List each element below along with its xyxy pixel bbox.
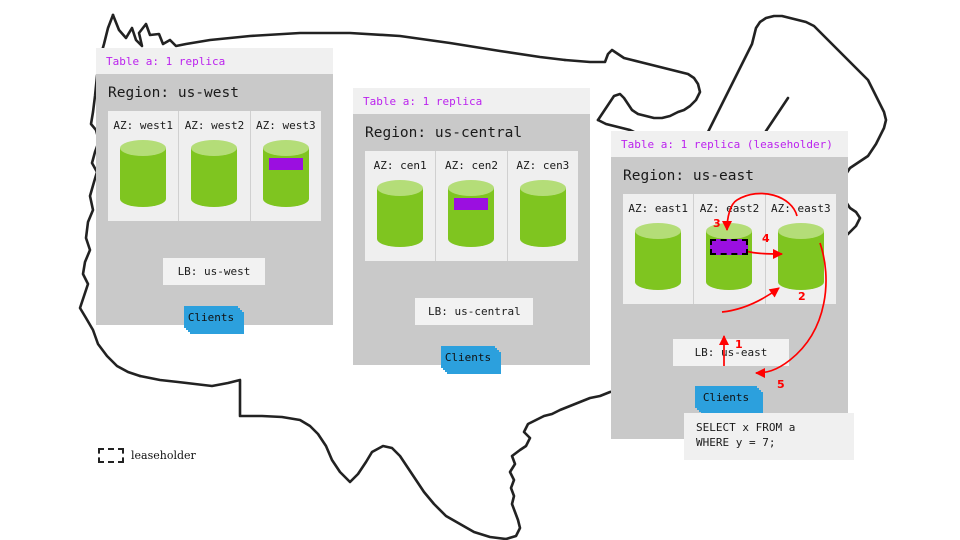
cylinder-cen2[interactable] [448,180,494,247]
az-label-cen3: AZ: cen3 [516,159,569,172]
arrow-number-5: 5 [777,378,785,391]
clients-label-us-east[interactable]: Clients [695,386,757,408]
cylinder-top [635,223,681,239]
az-label-east1: AZ: east1 [628,202,688,215]
cylinder-west3[interactable] [263,140,309,207]
az-label-west3: AZ: west3 [256,119,316,132]
clients-label-us-west[interactable]: Clients [184,306,238,328]
az-cell-cen1[interactable]: AZ: cen1 [365,151,436,261]
az-row-us-east: AZ: east1 AZ: east2 [623,194,836,304]
az-label-east3: AZ: east3 [771,202,831,215]
cylinder-cen3[interactable] [520,180,566,247]
lb-box-us-central[interactable]: LB: us-central [415,298,533,325]
cylinder-east3[interactable] [778,223,824,290]
panel-header-us-west: Table a: 1 replica [96,48,333,74]
arrow-number-2: 2 [798,290,806,303]
clients-us-east[interactable]: Clients [695,386,757,408]
region-panel-us-central[interactable]: Table a: 1 replica Region: us-central AZ… [353,88,590,365]
sql-query-box: SELECT x FROM a WHERE y = 7; [684,413,854,460]
az-cell-west2[interactable]: AZ: west2 [179,111,250,221]
cylinder-east1[interactable] [635,223,681,290]
clients-us-west[interactable]: Clients [184,306,238,328]
cylinder-west2[interactable] [191,140,237,207]
az-cell-east2[interactable]: AZ: east2 [694,194,765,304]
panel-header-us-central: Table a: 1 replica [353,88,590,114]
panel-header-us-east: Table a: 1 replica (leaseholder) [611,131,848,157]
lb-box-us-west[interactable]: LB: us-west [163,258,265,285]
az-row-us-west: AZ: west1 AZ: west2 AZ [108,111,321,221]
panel-body-us-west: Region: us-west AZ: west1 AZ: west2 [96,74,333,325]
az-cell-cen2[interactable]: AZ: cen2 [436,151,507,261]
az-cell-west1[interactable]: AZ: west1 [108,111,179,221]
cylinder-top [377,180,423,196]
panel-body-us-east: Region: us-east AZ: east1 AZ: east2 [611,157,848,439]
az-cell-east3[interactable]: AZ: east3 [766,194,836,304]
cylinder-top [120,140,166,156]
region-title-us-west: Region: us-west [96,74,333,111]
cylinder-top [263,140,309,156]
arrow-number-1: 1 [735,338,743,351]
cylinder-top [778,223,824,239]
legend-leaseholder: leaseholder [98,448,196,463]
region-title-us-central: Region: us-central [353,114,590,151]
arrow-number-4: 4 [762,232,770,245]
leaseholder-replica-east2[interactable] [710,239,748,255]
diagram-canvas: Table a: 1 replica Region: us-west AZ: w… [0,0,960,540]
az-row-us-central: AZ: cen1 AZ: cen2 [365,151,578,261]
clients-label-us-central[interactable]: Clients [441,346,495,368]
cylinder-top [520,180,566,196]
replica-block-cen2[interactable] [454,198,488,210]
dashed-rectangle-icon [98,448,124,463]
legend-label: leaseholder [131,449,196,462]
az-cell-cen3[interactable]: AZ: cen3 [508,151,578,261]
cylinder-east2[interactable] [706,223,752,290]
panel-body-us-central: Region: us-central AZ: cen1 AZ: cen2 [353,114,590,365]
az-label-cen2: AZ: cen2 [445,159,498,172]
az-label-cen1: AZ: cen1 [374,159,427,172]
region-title-us-east: Region: us-east [611,157,848,194]
az-label-west2: AZ: west2 [185,119,245,132]
replica-block-west3[interactable] [269,158,303,170]
region-panel-us-east[interactable]: Table a: 1 replica (leaseholder) Region:… [611,131,848,439]
region-panel-us-west[interactable]: Table a: 1 replica Region: us-west AZ: w… [96,48,333,325]
arrow-number-3: 3 [713,217,721,230]
az-label-east2: AZ: east2 [700,202,760,215]
lb-box-us-east[interactable]: LB: us-east [673,339,789,366]
cylinder-west1[interactable] [120,140,166,207]
az-label-west1: AZ: west1 [113,119,173,132]
clients-us-central[interactable]: Clients [441,346,495,368]
cylinder-cen1[interactable] [377,180,423,247]
az-cell-east1[interactable]: AZ: east1 [623,194,694,304]
az-cell-west3[interactable]: AZ: west3 [251,111,321,221]
